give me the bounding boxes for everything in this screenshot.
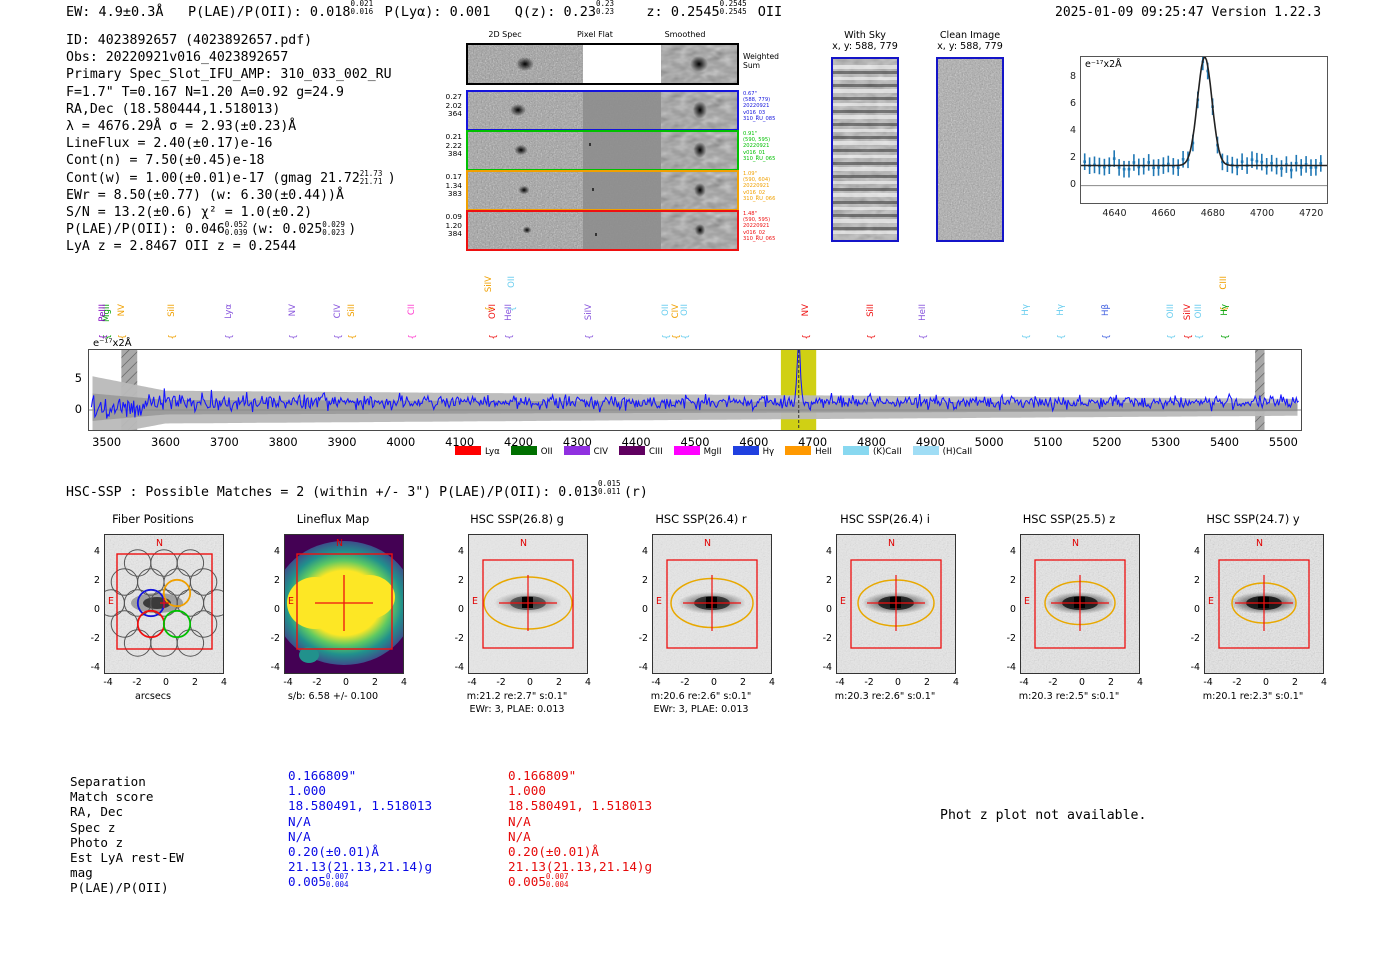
spec2d-title-smoothed: Smoothed [640, 30, 730, 39]
panel-xtick: 4 [214, 677, 234, 688]
legend-swatch [785, 446, 811, 455]
panel-image [1204, 534, 1324, 674]
panel-title: HSC SSP(26.4) i [810, 512, 960, 526]
matches-col1-value: 1.000 [288, 783, 326, 798]
north-label: N [1256, 538, 1263, 549]
header-plae-value: 0.018 [310, 4, 351, 20]
matches-col1-value: 21.13(21.13,21.14)g [288, 859, 432, 874]
spectrum-line-brace: { [289, 334, 299, 340]
spectrum-line-label: NV [289, 304, 297, 316]
spectrum-legend-item: CIII [619, 446, 663, 457]
panel-ytick: -2 [630, 633, 648, 644]
spectrum-line-brace: { [225, 334, 235, 340]
spectrum-plot [88, 349, 1302, 431]
spectrum-legend-item: HeII [785, 446, 832, 457]
panel-ytick: 0 [262, 604, 280, 615]
spectrum-line-label: HeII [919, 304, 927, 321]
panel-ytick: 4 [262, 546, 280, 557]
panel-title: HSC SSP(24.7) y [1178, 512, 1328, 526]
spectrum-line-label: Lyα [225, 304, 233, 319]
panel-ytick: -2 [262, 633, 280, 644]
spectrum-legend-item: (H)CaII [913, 446, 973, 457]
matches-row-label: Match score [70, 789, 153, 804]
matches-col2-value: 0.0050.0070.004 [508, 874, 572, 889]
info-lineflux: LineFlux = 2.40(±0.17)e-16 [66, 135, 396, 152]
matches-row-label: Separation [70, 774, 146, 789]
line-profile-xtick: 4640 [1098, 208, 1130, 219]
spectrum-line-brace: { [485, 306, 495, 312]
panel-xtick: 4 [578, 677, 598, 688]
panel-image [104, 534, 224, 674]
hsc-headline-text: HSC-SSP : Possible Matches = 2 (within +… [66, 485, 598, 500]
hsc-headline: HSC-SSP : Possible Matches = 2 (within +… [66, 484, 648, 500]
spec2d-row-left-labels: 0.171.34383 [416, 173, 462, 199]
line-profile-data [1081, 57, 1327, 203]
panel-xtick: 0 [520, 677, 540, 688]
timestamp-version: 2025-01-09 09:25:47 Version 1.22.3 [1055, 5, 1321, 20]
panel-xtick: 0 [1072, 677, 1092, 688]
spectrum-line-label: CIV [334, 304, 342, 318]
panel-xtick: 4 [394, 677, 414, 688]
matches-col2-value: 21.13(21.13,21.14)g [508, 859, 652, 874]
cutout-clean-title: Clean Image [920, 30, 1020, 41]
east-label: E [840, 596, 846, 607]
spec2d-fiber-row [466, 130, 739, 171]
line-profile-xtick: 4680 [1197, 208, 1229, 219]
image-panel-row: Fiber Positions NE420-2-4-4-2024arcsecsL… [0, 512, 1400, 727]
spec2d-fiber-row [466, 90, 739, 131]
legend-label: OII [541, 447, 553, 457]
legend-label: (H)CaII [943, 447, 973, 457]
spectrum-line-labels: MgII{PeIII{NV{SiII{Lyα{NV{CIV{SiII{CII{O… [0, 276, 1400, 350]
header-plae-label: P(LAE)/P(OII): [188, 4, 302, 20]
spectrum-line-brace: { [1022, 334, 1032, 340]
info-id: ID: 4023892657 (4023892657.pdf) [66, 32, 396, 49]
panel-xtick: -2 [1227, 677, 1247, 688]
panel-xtick: 0 [336, 677, 356, 688]
target-info-block: ID: 4023892657 (4023892657.pdf) Obs: 202… [66, 32, 396, 256]
panel-image [284, 534, 404, 674]
cutout-with-sky-coords: x, y: 588, 779 [815, 41, 915, 52]
panel-ytick: -2 [1182, 633, 1200, 644]
panel-xtick: -4 [1014, 677, 1034, 688]
spectrum-line-brace: { [919, 334, 929, 340]
east-label: E [1024, 596, 1030, 607]
legend-swatch [619, 446, 645, 455]
info-cont-n: Cont(n) = 7.50(±0.45)e-18 [66, 152, 396, 169]
spectrum-line-brace: { [408, 334, 418, 340]
panel-xtick: 2 [1285, 677, 1305, 688]
line-profile-axes: e⁻¹⁷x2Å [1080, 56, 1328, 204]
panel-ytick: 4 [446, 546, 464, 557]
panel-image [1020, 534, 1140, 674]
panel-ytick: 4 [630, 546, 648, 557]
panel-ytick: 4 [998, 546, 1016, 557]
spec2d-title-pixelflat: Pixel Flat [550, 30, 640, 39]
panel-xtick: 0 [1256, 677, 1276, 688]
panel-xtick: -2 [491, 677, 511, 688]
panel-xtick: -4 [278, 677, 298, 688]
spectrum-legend-item: (K)CaII [843, 446, 902, 457]
legend-label: HeII [815, 447, 832, 457]
matches-row-label: RA, Dec [70, 804, 123, 819]
panel-caption-2: EWr: 3, PLAE: 0.013 [442, 704, 592, 715]
spec2d-row-right-labels: 0.67"(588, 779)20220921v016_03310_RU_085 [743, 91, 799, 122]
east-label: E [1208, 596, 1214, 607]
spectrum-line-label: CII [408, 304, 416, 315]
spectrum-legend-item: Hγ [733, 446, 775, 457]
matches-col2-value: N/A [508, 814, 531, 829]
spectrum-line-label: PeIII [99, 304, 107, 322]
spectrum-line-label: OII [662, 304, 670, 316]
legend-label: CIII [649, 447, 663, 457]
spectrum-line-brace: { [681, 334, 691, 340]
north-label: N [336, 538, 343, 549]
panel-xtick: -4 [1198, 677, 1218, 688]
line-profile-xtick: 4720 [1295, 208, 1327, 219]
panel-ytick: 2 [262, 575, 280, 586]
line-profile-units: e⁻¹⁷x2Å [1085, 59, 1122, 70]
spec2d-row-right-labels: 1.09"(590, 604)20220921v016_02310_RU_066 [743, 171, 799, 202]
spectrum-legend-item: Lyα [455, 446, 500, 457]
north-label: N [1072, 538, 1079, 549]
panel-ytick: -4 [998, 662, 1016, 673]
legend-swatch [913, 446, 939, 455]
spectrum-line-brace: { [1057, 334, 1067, 340]
info-ewr: EWr = 8.50(±0.77) (w: 6.30(±0.44))Å [66, 187, 396, 204]
panel-xtick: 4 [1130, 677, 1150, 688]
matches-row-label: Spec z [70, 820, 116, 835]
panel-ytick: -4 [446, 662, 464, 673]
panel-ytick: -2 [814, 633, 832, 644]
spectrum-xtick: 3700 [201, 435, 247, 449]
spectrum-line-brace: { [1167, 334, 1177, 340]
panel-ytick: 4 [814, 546, 832, 557]
matches-row-label: Photo z [70, 835, 123, 850]
spectrum-line-brace: { [489, 334, 499, 340]
panel-ytick: -2 [446, 633, 464, 644]
line-profile-ytick: 0 [1062, 179, 1076, 190]
spec2d-row-right-labels: 1.48"(590, 595)20220921v016_02310_RU_065 [743, 211, 799, 242]
north-label: N [520, 538, 527, 549]
panel-xtick: 2 [1101, 677, 1121, 688]
north-label: N [888, 538, 895, 549]
legend-label: (K)CaII [873, 447, 902, 457]
spectrum-xtick: 3900 [319, 435, 365, 449]
panel-xtick: -2 [1043, 677, 1063, 688]
line-profile-ytick: 6 [1062, 98, 1076, 109]
spectrum-legend-item: OII [511, 446, 553, 457]
spectrum-xtick: 5300 [1143, 435, 1189, 449]
spectrum-line-brace: { [1221, 334, 1231, 340]
panel-caption: m:20.1 re:2.3" s:0.1" [1178, 691, 1328, 702]
spectrum-legend-item: MgII [674, 446, 722, 457]
spectrum-xtick: 5100 [1025, 435, 1071, 449]
header-qz-errors: 0.230.23 [596, 4, 622, 16]
line-profile-xtick: 4660 [1148, 208, 1180, 219]
legend-label: Hγ [763, 447, 775, 457]
panel-ytick: -4 [262, 662, 280, 673]
matches-row-label: P(LAE)/P(OII) [70, 880, 169, 895]
legend-swatch [564, 446, 590, 455]
panel-lineflux-map: Lineflux Map [258, 512, 408, 727]
panel-ytick: -2 [998, 633, 1016, 644]
line-profile-plot: e⁻¹⁷x2Å 02468 46404660468047004720 [1038, 48, 1346, 233]
spectrum-xtick: 4000 [378, 435, 424, 449]
info-slot: Primary Spec_Slot_IFU_AMP: 310_033_002_R… [66, 66, 396, 83]
legend-swatch [455, 446, 481, 455]
spectrum-line-label: SiII [348, 304, 356, 317]
spectrum-line-label: NV [802, 304, 810, 316]
panel-caption: arcsecs [78, 691, 228, 702]
header-plya: P(Lyα): 0.001 [385, 4, 491, 20]
panel-xtick: -4 [462, 677, 482, 688]
matches-col1-value: N/A [288, 814, 311, 829]
panel-xtick: -2 [859, 677, 879, 688]
header-z-label: z: [646, 4, 662, 20]
panel-ytick: -4 [814, 662, 832, 673]
matches-col1-value: 0.0050.0070.004 [288, 874, 352, 889]
line-profile-ytick: 2 [1062, 152, 1076, 163]
panel-ytick: 0 [998, 604, 1016, 615]
spectrum-line-label: Hβ [1102, 304, 1110, 316]
info-plae: P(LAE)/P(OII): 0.0460.0520.039(w: 0.0250… [66, 221, 396, 238]
spectrum-line-brace: { [508, 306, 518, 312]
matches-row-label: mag [70, 865, 93, 880]
panel-xtick: 2 [185, 677, 205, 688]
info-lambda: λ = 4676.29Å σ = 2.93(±0.23)Å [66, 118, 396, 135]
header-ew: EW: 4.9±0.3Å [66, 4, 164, 20]
spectrum-line-label: Hγ [1022, 304, 1030, 316]
panel-ytick: 2 [814, 575, 832, 586]
spectrum-line-brace: { [334, 334, 344, 340]
spectrum-legend-item: CIV [564, 446, 608, 457]
panel-caption: m:21.2 re:2.7" s:0.1" [442, 691, 592, 702]
panel-xtick: 4 [762, 677, 782, 688]
panel-ytick: 2 [998, 575, 1016, 586]
cutout-clean-coords: x, y: 588, 779 [920, 41, 1020, 52]
panel-ytick: 0 [82, 604, 100, 615]
spectrum-units: e⁻¹⁷x2Å [93, 338, 132, 349]
spec2d-row-left-labels: 0.091.20384 [416, 213, 462, 239]
spectrum-line-brace: { [1195, 334, 1205, 340]
header-plae-errors: 0.0210.016 [351, 4, 377, 16]
panel-image [652, 534, 772, 674]
panel-hsc-g: HSC SSP(26.8) g NE420-2-4-4-2024m:21.2 r… [442, 512, 592, 727]
spectrum-line-label: OIII [1167, 304, 1175, 318]
matches-col1-value: N/A [288, 829, 311, 844]
panel-image [836, 534, 956, 674]
legend-label: CIV [594, 447, 608, 457]
panel-fiber-positions: Fiber Positions NE420-2-4-4-2024arcsecs [78, 512, 228, 727]
spectrum-line-brace: { [348, 334, 358, 340]
panel-ytick: 2 [1182, 575, 1200, 586]
panel-xtick: -4 [830, 677, 850, 688]
spectrum-xtick: 3600 [142, 435, 188, 449]
matches-col1-value: 0.166809" [288, 768, 356, 783]
spectrum-line-label: SiIV [485, 276, 493, 292]
hsc-headline-errors: 0.0150.011 [598, 484, 624, 496]
panel-ytick: 0 [630, 604, 648, 615]
panel-ytick: 4 [1182, 546, 1200, 557]
spectrum-line-label: SiIV [1184, 304, 1192, 320]
spec2d-fiber-row [466, 210, 739, 251]
spectrum-line-label: SiIV [585, 304, 593, 320]
panel-ytick: 2 [446, 575, 464, 586]
cutout-with-sky-title: With Sky [815, 30, 915, 41]
spectrum-line-brace: { [867, 334, 877, 340]
spectrum-xtick: 3800 [260, 435, 306, 449]
spectrum-line-label: OII [508, 276, 516, 288]
matches-col2-value: 1.000 [508, 783, 546, 798]
north-label: N [704, 538, 711, 549]
panel-hsc-i: HSC SSP(26.4) i NE420-2-4-4-2024m:20.3 r… [810, 512, 960, 727]
spectrum-xtick: 5200 [1084, 435, 1130, 449]
header-z-type: OII [758, 4, 782, 20]
matches-col1-value: 0.20(±0.01)Å [288, 844, 379, 859]
matches-col2-value: N/A [508, 829, 531, 844]
legend-label: Lyα [485, 447, 500, 457]
spectrum-xtick: 5500 [1260, 435, 1306, 449]
matches-row-label: Est LyA rest-EW [70, 850, 184, 865]
panel-caption-2: EWr: 3, PLAE: 0.013 [626, 704, 776, 715]
panel-hsc-y: HSC SSP(24.7) y NE420-2-4-4-2024m:20.1 r… [1178, 512, 1328, 727]
spectrum-line-brace: { [505, 334, 515, 340]
hsc-headline-filter: (r) [624, 485, 648, 500]
spectrum-ytick: 5 [68, 371, 82, 385]
matches-col1-value: 18.580491, 1.518013 [288, 798, 432, 813]
panel-ytick: 0 [1182, 604, 1200, 615]
info-cont-w: Cont(w) = 1.00(±0.01)e-17 (gmag 21.7221.… [66, 170, 396, 187]
spectrum-line-label: SiII [168, 304, 176, 317]
panel-xtick: 4 [1314, 677, 1334, 688]
spec2d-row-left-labels: 0.272.02364 [416, 93, 462, 119]
spectrum-line-brace: { [1184, 334, 1194, 340]
legend-swatch [674, 446, 700, 455]
header-qz-value: 0.23 [564, 4, 597, 20]
panel-ytick: 0 [446, 604, 464, 615]
legend-swatch [843, 446, 869, 455]
line-profile-ytick: 4 [1062, 125, 1076, 136]
spec2d-title-2dspec: 2D Spec [460, 30, 550, 39]
spectrum-line-label: Hγ [1057, 304, 1065, 316]
header-z-errors: 0.25450.2545 [720, 4, 750, 16]
panel-xtick: -4 [98, 677, 118, 688]
spectrum-line-brace: { [802, 334, 812, 340]
legend-swatch [733, 446, 759, 455]
east-label: E [108, 596, 114, 607]
spectrum-line-brace: { [168, 334, 178, 340]
panel-xtick: -4 [646, 677, 666, 688]
panel-caption: s/b: 6.58 +/- 0.100 [258, 691, 408, 702]
matches-col2-value: 18.580491, 1.518013 [508, 798, 652, 813]
spec2d-row-right-labels: 0.91"(590, 595)20220921v016_01310_RU_065 [743, 131, 799, 162]
matches-table: Separation0.166809"0.166809"Match score1… [70, 774, 790, 904]
spectrum-xtick: 3500 [84, 435, 130, 449]
matches-col2-value: 0.20(±0.01)Å [508, 844, 599, 859]
panel-title: Fiber Positions [78, 512, 228, 526]
spectrum-xtick: 5400 [1202, 435, 1248, 449]
spec2d-weighted-sum-row [466, 43, 739, 85]
spectrum-line-label: OII [681, 304, 689, 316]
panel-xtick: 4 [946, 677, 966, 688]
info-seeing: F=1.7" T=0.167 N=1.20 A=0.92 g=24.9 [66, 84, 396, 101]
line-profile-xtick: 4700 [1246, 208, 1278, 219]
spectrum-ytick: 0 [68, 402, 82, 416]
panel-title: Lineflux Map [258, 512, 408, 526]
panel-caption: m:20.3 re:2.5" s:0.1" [994, 691, 1144, 702]
panel-xtick: 2 [549, 677, 569, 688]
spectrum-legend: LyαOIICIVCIIIMgIIHγHeII(K)CaII(H)CaII [455, 446, 983, 457]
photz-note: Phot z plot not available. [940, 808, 1146, 823]
east-label: E [656, 596, 662, 607]
header-summary-line: EW: 4.9±0.3Å P(LAE)/P(OII): 0.0180.0210.… [66, 4, 782, 20]
panel-xtick: 2 [365, 677, 385, 688]
spec2d-weighted-sum-label: WeightedSum [743, 52, 779, 70]
east-label: E [472, 596, 478, 607]
matches-col2-value: 0.166809" [508, 768, 576, 783]
panel-title: HSC SSP(25.5) z [994, 512, 1144, 526]
panel-ytick: -4 [630, 662, 648, 673]
north-label: N [156, 538, 163, 549]
panel-ytick: -4 [82, 662, 100, 673]
panel-ytick: 2 [82, 575, 100, 586]
spectrum-line-label: SiII [867, 304, 875, 317]
panel-title: HSC SSP(26.8) g [442, 512, 592, 526]
panel-ytick: 2 [630, 575, 648, 586]
panel-ytick: 4 [82, 546, 100, 557]
spectrum-line-brace: { [585, 334, 595, 340]
spectrum-line-label: Hγ [1221, 304, 1229, 316]
legend-label: MgII [704, 447, 722, 457]
legend-swatch [511, 446, 537, 455]
panel-xtick: -2 [127, 677, 147, 688]
panel-xtick: 2 [917, 677, 937, 688]
panel-xtick: -2 [675, 677, 695, 688]
panel-xtick: -2 [307, 677, 327, 688]
panel-xtick: 0 [156, 677, 176, 688]
spectrum-line-label: OIII [1195, 304, 1203, 318]
panel-title: HSC SSP(26.4) r [626, 512, 776, 526]
panel-ytick: 0 [814, 604, 832, 615]
spectrum-line-label: NV [118, 304, 126, 316]
header-z-value: 0.2545 [671, 4, 720, 20]
east-label: E [288, 596, 294, 607]
header-qz-label: Q(z): [515, 4, 556, 20]
panel-xtick: 0 [704, 677, 724, 688]
panel-ytick: -2 [82, 633, 100, 644]
panel-image [468, 534, 588, 674]
panel-xtick: 2 [733, 677, 753, 688]
spectrum-line-brace: { [1102, 334, 1112, 340]
panel-hsc-z: HSC SSP(25.5) z NE420-2-4-4-2024m:20.3 r… [994, 512, 1144, 727]
info-radec: RA,Dec (18.580444,1.518013) [66, 101, 396, 118]
line-profile-ytick: 8 [1062, 71, 1076, 82]
panel-caption: m:20.6 re:2.6" s:0.1" [626, 691, 776, 702]
spec2d-panel-group: 2D Spec Pixel Flat Smoothed [440, 30, 790, 252]
spectrum-line-label: CIII [1220, 276, 1228, 290]
spectrum-line-brace: { [662, 334, 672, 340]
panel-hsc-r: HSC SSP(26.4) r NE420-2-4-4-2024m:20.6 r… [626, 512, 776, 727]
spec2d-row-left-labels: 0.212.22384 [416, 133, 462, 159]
panel-ytick: -4 [1182, 662, 1200, 673]
panel-caption: m:20.3 re:2.6" s:0.1" [810, 691, 960, 702]
panel-xtick: 0 [888, 677, 908, 688]
info-obs: Obs: 20220921v016_4023892657 [66, 49, 396, 66]
spec2d-fiber-row [466, 170, 739, 211]
